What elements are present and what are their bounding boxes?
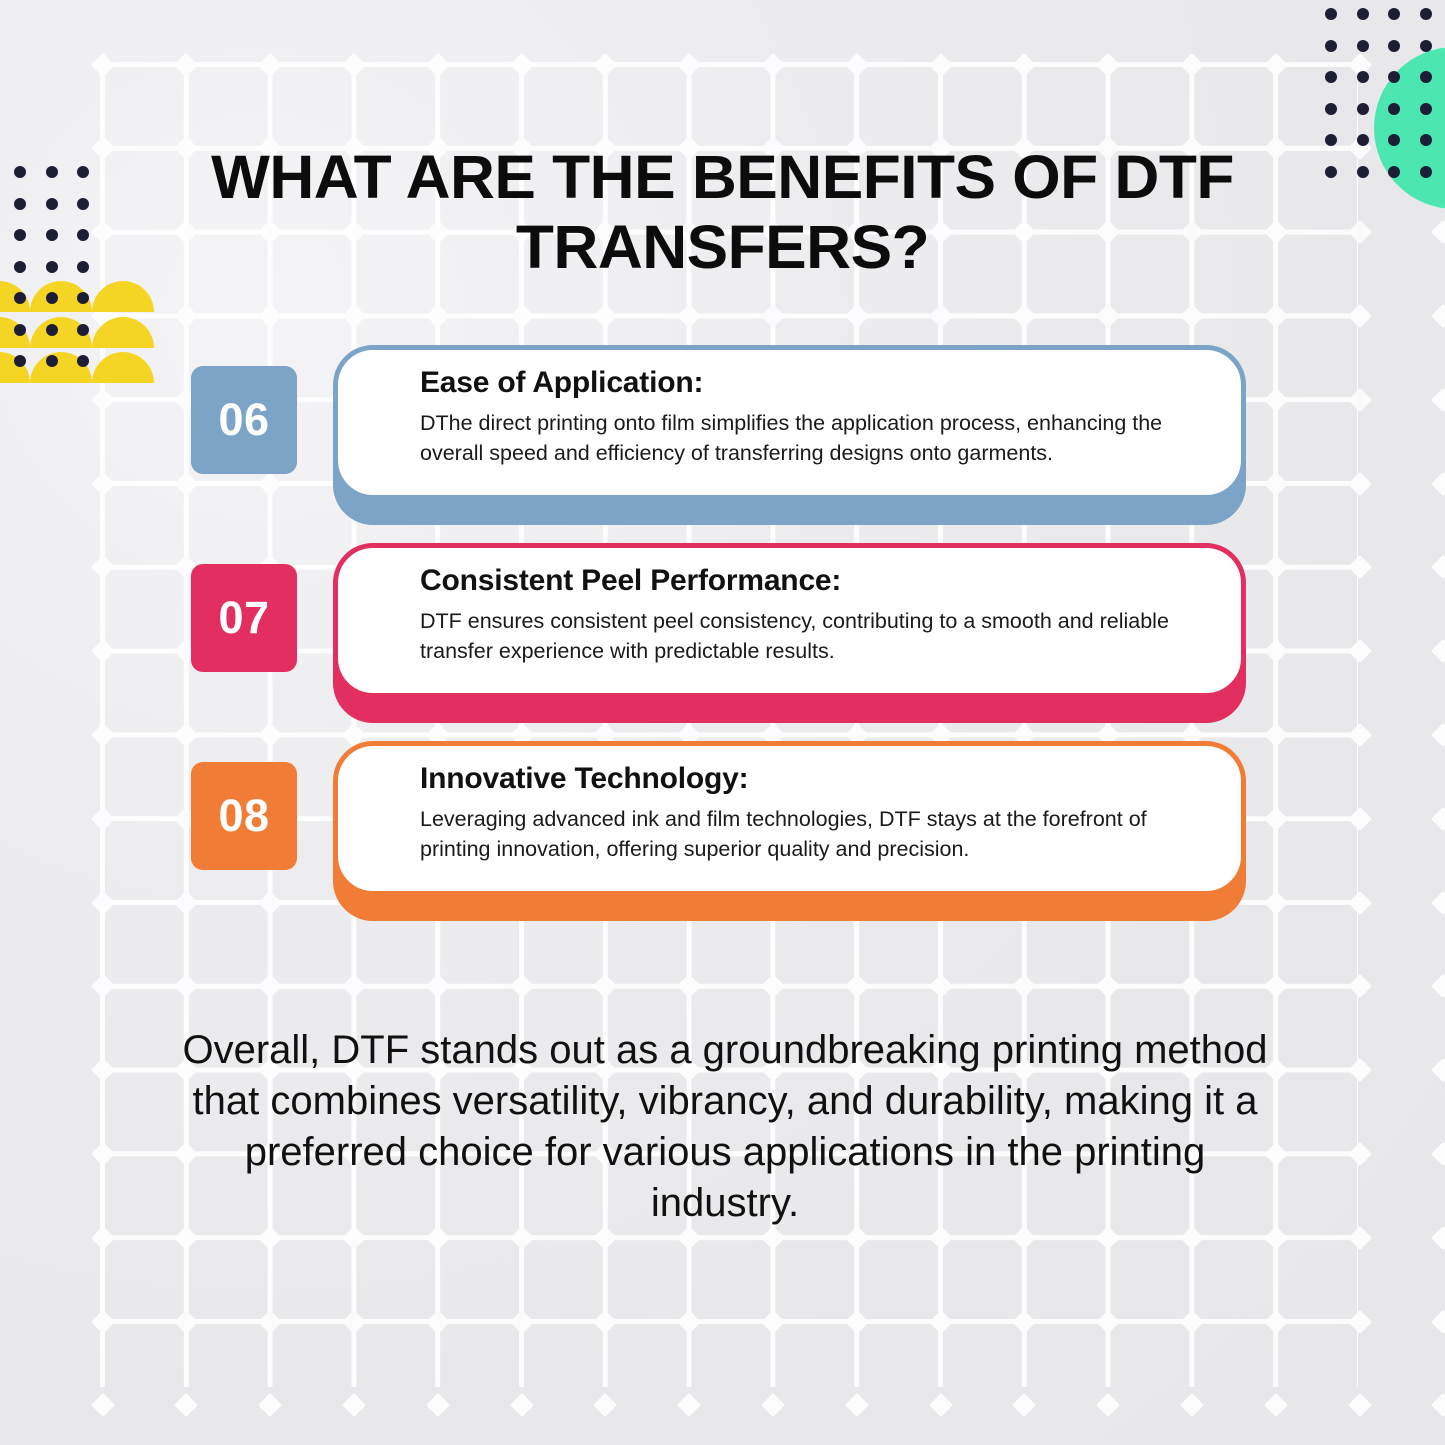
card-number-label: 06 xyxy=(218,394,269,446)
card-body-text: DTF ensures consistent peel consistency,… xyxy=(420,606,1211,666)
grid-diamond xyxy=(258,974,282,998)
grid-diamond xyxy=(1347,974,1371,998)
yellow-semicircle xyxy=(0,281,30,312)
decor-dot xyxy=(1325,8,1337,20)
grid-diamond xyxy=(845,52,869,76)
grid-diamond xyxy=(258,304,282,328)
grid-diamond xyxy=(1096,974,1120,998)
grid-diamond xyxy=(509,304,533,328)
grid-diamond xyxy=(1264,52,1288,76)
decor-dot xyxy=(1325,40,1337,52)
decor-dot xyxy=(77,229,89,241)
grid-diamond xyxy=(90,1058,114,1082)
grid-diamond xyxy=(90,136,114,160)
yellow-semicircle xyxy=(30,281,92,312)
grid-diamond xyxy=(593,52,617,76)
decor-dot xyxy=(1325,134,1337,146)
card-title: Ease of Application: xyxy=(420,364,1211,402)
grid-diamond xyxy=(174,1309,198,1333)
grid-diamond xyxy=(342,974,366,998)
teal-circle-decoration xyxy=(1374,47,1445,209)
grid-diamond xyxy=(593,1226,617,1250)
grid-diamond xyxy=(1012,304,1036,328)
grid-diamond xyxy=(1347,1142,1371,1166)
grid-diamond xyxy=(90,52,114,76)
grid-diamond xyxy=(1431,1393,1445,1417)
grid-diamond xyxy=(1431,974,1445,998)
grid-diamond xyxy=(761,304,785,328)
page-title: WHAT ARE THE BENEFITS OF DTF TRANSFERS? xyxy=(139,142,1307,282)
card-panel: Consistent Peel Performance:DTF ensures … xyxy=(333,543,1246,698)
grid-diamond xyxy=(1431,220,1445,244)
grid-diamond xyxy=(761,1226,785,1250)
grid-diamond xyxy=(761,974,785,998)
grid-diamond xyxy=(342,1226,366,1250)
decor-dot xyxy=(1325,166,1337,178)
grid-diamond xyxy=(1096,52,1120,76)
decor-dot xyxy=(77,166,89,178)
grid-diamond xyxy=(426,1309,450,1333)
grid-diamond xyxy=(258,1309,282,1333)
grid-diamond xyxy=(1347,1058,1371,1082)
grid-diamond xyxy=(761,1309,785,1333)
decor-dot xyxy=(77,261,89,273)
grid-diamond xyxy=(342,52,366,76)
grid-diamond xyxy=(1347,136,1371,160)
grid-diamond xyxy=(1431,1226,1445,1250)
grid-diamond xyxy=(928,1393,952,1417)
grid-diamond xyxy=(593,1393,617,1417)
grid-diamond xyxy=(1264,974,1288,998)
decor-dot xyxy=(46,166,58,178)
card-number-badge: 06 xyxy=(191,366,297,474)
infographic-canvas: WHAT ARE THE BENEFITS OF DTF TRANSFERS? … xyxy=(0,0,1445,1445)
grid-diamond xyxy=(258,52,282,76)
decor-dot xyxy=(1420,8,1432,20)
decor-dot xyxy=(77,198,89,210)
grid-diamond xyxy=(342,304,366,328)
grid-diamond xyxy=(1096,1309,1120,1333)
grid-diamond xyxy=(1012,1226,1036,1250)
grid-diamond xyxy=(509,1393,533,1417)
grid-diamond xyxy=(1012,974,1036,998)
grid-diamond xyxy=(90,1142,114,1166)
benefit-card: Consistent Peel Performance:DTF ensures … xyxy=(0,538,1445,736)
grid-diamond xyxy=(90,1226,114,1250)
grid-diamond xyxy=(677,304,701,328)
grid-diamond xyxy=(174,1226,198,1250)
grid-diamond xyxy=(1264,1393,1288,1417)
grid-diamond xyxy=(1264,1226,1288,1250)
grid-diamond xyxy=(90,974,114,998)
grid-diamond xyxy=(174,304,198,328)
grid-diamond xyxy=(342,1393,366,1417)
decor-dot xyxy=(1357,71,1369,83)
grid-diamond xyxy=(593,1309,617,1333)
card-title: Consistent Peel Performance: xyxy=(420,562,1211,600)
grid-diamond xyxy=(928,974,952,998)
grid-diamond xyxy=(174,974,198,998)
grid-diamond xyxy=(677,1393,701,1417)
grid-diamond xyxy=(1096,1393,1120,1417)
decor-dot xyxy=(14,261,26,273)
card-body-text: Leveraging advanced ink and film technol… xyxy=(420,804,1211,864)
grid-diamond xyxy=(342,1309,366,1333)
grid-diamond xyxy=(761,1393,785,1417)
decor-dot xyxy=(1357,166,1369,178)
grid-diamond xyxy=(845,1393,869,1417)
decor-dot xyxy=(1357,8,1369,20)
grid-diamond xyxy=(1347,52,1371,76)
grid-diamond xyxy=(1431,304,1445,328)
decor-dot xyxy=(14,229,26,241)
grid-diamond xyxy=(845,304,869,328)
grid-diamond xyxy=(928,52,952,76)
grid-diamond xyxy=(1431,1142,1445,1166)
grid-diamond xyxy=(258,1226,282,1250)
decor-dot xyxy=(46,198,58,210)
grid-diamond xyxy=(593,974,617,998)
grid-diamond xyxy=(90,1309,114,1333)
grid-diamond xyxy=(174,52,198,76)
card-number-label: 07 xyxy=(218,592,269,644)
grid-diamond xyxy=(1180,1309,1204,1333)
grid-diamond xyxy=(426,304,450,328)
decor-dot xyxy=(1388,40,1400,52)
grid-diamond xyxy=(1264,304,1288,328)
grid-diamond xyxy=(928,1226,952,1250)
grid-diamond xyxy=(845,1226,869,1250)
benefit-card: Innovative Technology:Leveraging advance… xyxy=(0,736,1445,934)
card-title: Innovative Technology: xyxy=(420,760,1211,798)
grid-diamond xyxy=(1347,1393,1371,1417)
decor-dot xyxy=(1388,8,1400,20)
grid-diamond xyxy=(1347,1309,1371,1333)
grid-diamond xyxy=(509,1309,533,1333)
decor-dot xyxy=(46,261,58,273)
grid-diamond xyxy=(90,220,114,244)
grid-diamond xyxy=(426,52,450,76)
grid-diamond xyxy=(258,1393,282,1417)
grid-diamond xyxy=(1012,1393,1036,1417)
grid-diamond xyxy=(426,1226,450,1250)
card-number-badge: 08 xyxy=(191,762,297,870)
grid-diamond xyxy=(677,974,701,998)
card-number-badge: 07 xyxy=(191,564,297,672)
grid-diamond xyxy=(1347,220,1371,244)
grid-diamond xyxy=(1180,52,1204,76)
grid-diamond xyxy=(1180,1226,1204,1250)
grid-diamond xyxy=(677,1309,701,1333)
grid-diamond xyxy=(1180,304,1204,328)
decor-dot xyxy=(14,166,26,178)
grid-diamond xyxy=(593,304,617,328)
grid-diamond xyxy=(928,304,952,328)
grid-diamond xyxy=(509,974,533,998)
grid-diamond xyxy=(90,1393,114,1417)
grid-diamond xyxy=(509,1226,533,1250)
yellow-semicircle xyxy=(92,281,154,312)
decor-dot xyxy=(14,198,26,210)
grid-diamond xyxy=(1180,1393,1204,1417)
grid-diamond xyxy=(1264,1309,1288,1333)
grid-diamond xyxy=(426,1393,450,1417)
grid-diamond xyxy=(761,52,785,76)
summary-paragraph: Overall, DTF stands out as a groundbreak… xyxy=(175,1025,1275,1229)
card-number-label: 08 xyxy=(218,790,269,842)
grid-diamond xyxy=(1096,304,1120,328)
benefit-card: Ease of Application:DThe direct printing… xyxy=(0,340,1445,538)
grid-diamond xyxy=(426,974,450,998)
grid-diamond xyxy=(1096,1226,1120,1250)
grid-diamond xyxy=(1012,1309,1036,1333)
card-panel: Ease of Application:DThe direct printing… xyxy=(333,345,1246,500)
decor-dot xyxy=(1325,71,1337,83)
card-panel: Innovative Technology:Leveraging advance… xyxy=(333,741,1246,896)
grid-diamond xyxy=(1431,1058,1445,1082)
grid-diamond xyxy=(845,974,869,998)
decor-dot xyxy=(1420,40,1432,52)
grid-diamond xyxy=(677,1226,701,1250)
grid-diamond xyxy=(1347,304,1371,328)
grid-diamond xyxy=(1431,1309,1445,1333)
grid-diamond xyxy=(1012,52,1036,76)
decor-dot xyxy=(1357,40,1369,52)
grid-diamond xyxy=(677,52,701,76)
grid-diamond xyxy=(928,1309,952,1333)
grid-diamond xyxy=(174,1393,198,1417)
grid-diamond xyxy=(1347,1226,1371,1250)
decor-dot xyxy=(46,229,58,241)
grid-diamond xyxy=(845,1309,869,1333)
grid-diamond xyxy=(509,52,533,76)
decor-dot xyxy=(1357,134,1369,146)
decor-dot xyxy=(1357,103,1369,115)
decor-dot xyxy=(1325,103,1337,115)
card-body-text: DThe direct printing onto film simplifie… xyxy=(420,408,1211,468)
benefit-card-list: Ease of Application:DThe direct printing… xyxy=(0,340,1445,934)
grid-diamond xyxy=(1180,974,1204,998)
